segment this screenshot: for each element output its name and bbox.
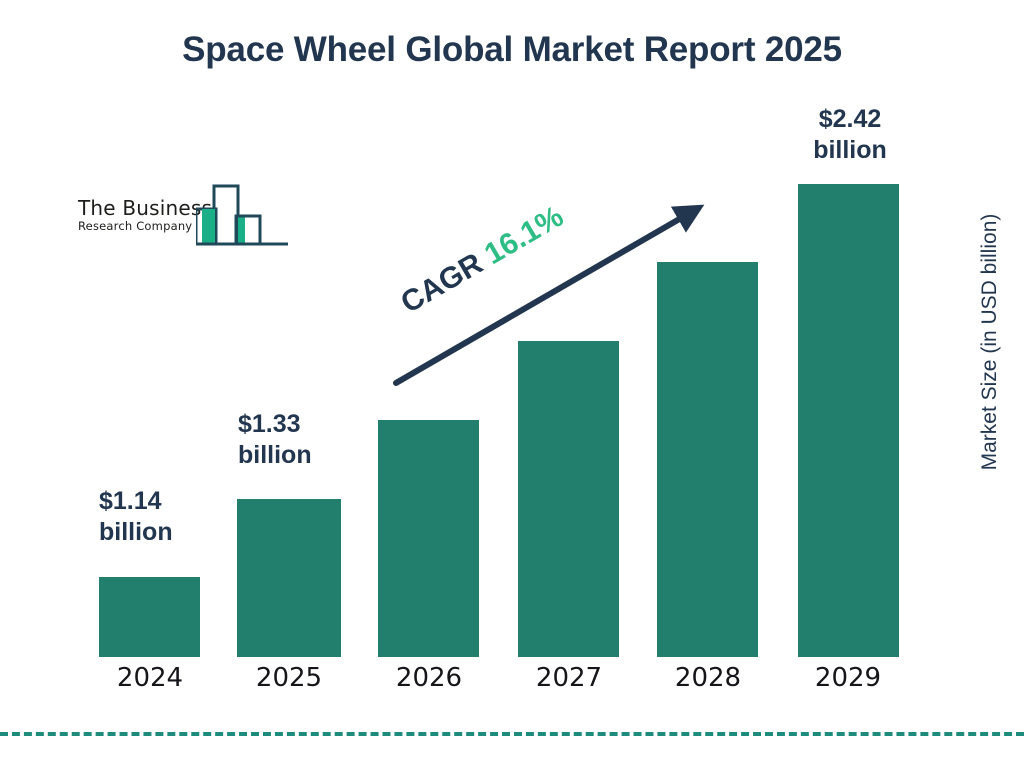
x-tick-2029: 2029 <box>778 663 918 693</box>
cagr-annotation: CAGR 16.1% <box>395 200 569 321</box>
x-tick-2026: 2026 <box>359 663 499 693</box>
bar-2025 <box>237 499 341 657</box>
y-axis-title: Market Size (in USD billion) <box>978 182 1002 502</box>
bar-2027 <box>518 341 619 657</box>
footer-divider <box>0 732 1024 736</box>
bar-chart-outline-logo-icon <box>196 183 288 253</box>
bar-2024 <box>99 577 200 657</box>
value-label-2025: $1.33 billion <box>238 409 312 471</box>
chart-canvas: Space Wheel Global Market Report 2025 Th… <box>0 0 1024 768</box>
page-title: Space Wheel Global Market Report 2025 <box>0 30 1024 70</box>
logo-line-1: The Business <box>78 197 206 219</box>
logo-wordmark: The Business Research Company <box>78 197 206 233</box>
cagr-label: CAGR <box>395 247 488 320</box>
x-tick-2024: 2024 <box>80 663 220 693</box>
company-logo: The Business Research Company <box>78 183 288 253</box>
bar-2026 <box>378 420 479 657</box>
x-tick-2028: 2028 <box>638 663 778 693</box>
value-label-2024: $1.14 billion <box>99 486 173 548</box>
cagr-value: 16.1% <box>479 200 569 271</box>
bar-2029 <box>798 184 899 657</box>
x-tick-2025: 2025 <box>219 663 359 693</box>
value-label-2029: $2.42 billion <box>796 104 904 166</box>
bar-2028 <box>657 262 758 657</box>
x-tick-2027: 2027 <box>499 663 639 693</box>
logo-line-2: Research Company <box>78 219 206 233</box>
